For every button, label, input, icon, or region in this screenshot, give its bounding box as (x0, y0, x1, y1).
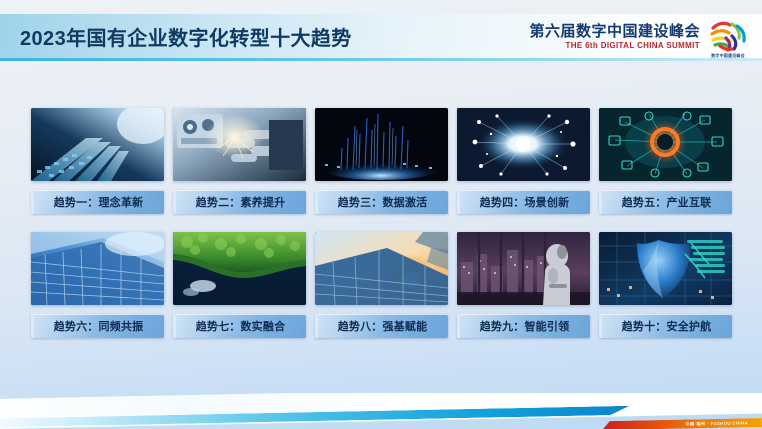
trend-label: 趋势九：智能引领 (457, 314, 590, 338)
footer-location-text: 中国·福州 · FUZHOU CHINA (685, 420, 748, 427)
slide-header: 2023年国有企业数字化转型十大趋势 第六届数字中国建设峰会 THE 6th D… (0, 14, 762, 58)
solar-panel-array-image (31, 232, 164, 305)
trends-row: 趋势一：理念革新 (0, 108, 762, 214)
trend-label: 趋势七：数实融合 (173, 314, 306, 338)
summit-wordmark: 第六届数字中国建设峰会 THE 6th DIGITAL CHINA SUMMIT (529, 24, 700, 50)
summit-title-cn: 第六届数字中国建设峰会 (529, 24, 700, 39)
robot-city-window-image (457, 232, 590, 305)
digital-keyboard-stairs-image (31, 108, 164, 181)
trend-label-text: 趋势七：数实融合 (196, 318, 286, 334)
trend-label: 趋势四：场景创新 (457, 190, 590, 214)
trend-label-text: 趋势十：安全护航 (622, 318, 712, 334)
footer-warm-band: 中国·福州 · FUZHOU CHINA (602, 418, 762, 429)
summit-title-en: THE 6th DIGITAL CHINA SUMMIT (565, 42, 700, 50)
blue-shield-circuit-image (599, 232, 732, 305)
light-burst-particle-network-image (457, 108, 590, 181)
green-forest-water-image (173, 232, 306, 305)
trend-card[interactable]: 趋势八：强基赋能 (315, 232, 448, 338)
trend-card[interactable]: 趋势六：同频共振 (31, 232, 164, 338)
trend-label-text: 趋势五：产业互联 (622, 194, 712, 210)
trend-label: 趋势十：安全护航 (599, 314, 732, 338)
trend-label-text: 趋势四：场景创新 (480, 194, 570, 210)
trend-card[interactable]: 趋势一：理念革新 (31, 108, 164, 214)
trend-label-text: 趋势三：数据激活 (338, 194, 428, 210)
trend-card[interactable]: 趋势七：数实融合 (173, 232, 306, 338)
trend-label: 趋势一：理念革新 (31, 190, 164, 214)
trend-label: 趋势三：数据激活 (315, 190, 448, 214)
trend-card[interactable]: 趋势二：素养提升 (173, 108, 306, 214)
trend-card[interactable]: 趋势九：智能引领 (457, 232, 590, 338)
summit-logo-caption: 数字中国建设峰会 (706, 53, 750, 58)
trend-label-text: 趋势六：同频共振 (54, 318, 144, 334)
trend-label: 趋势五：产业互联 (599, 190, 732, 214)
trends-grid: 趋势一：理念革新 (0, 108, 762, 338)
trend-card[interactable]: 趋势十：安全护航 (599, 232, 732, 338)
slide-footer: 中国·福州 · FUZHOU CHINA (0, 393, 762, 429)
trend-label-text: 趋势九：智能引领 (480, 318, 570, 334)
trends-row: 趋势六：同频共振 (0, 232, 762, 338)
trend-card[interactable]: 趋势三：数据激活 (315, 108, 448, 214)
robotic-hands-control-panel-image (173, 108, 306, 181)
page-title: 2023年国有企业数字化转型十大趋势 (20, 22, 352, 51)
summit-branding: 第六届数字中国建设峰会 THE 6th DIGITAL CHINA SUMMIT (529, 16, 750, 58)
trend-label-text: 趋势八：强基赋能 (338, 318, 428, 334)
solar-panel-sunset-image (315, 232, 448, 305)
trend-card[interactable]: 趋势五：产业互联 (599, 108, 732, 214)
blue-data-stream-image (315, 108, 448, 181)
summit-logo-icon: 数字中国建设峰会 (706, 16, 750, 58)
trend-card[interactable]: 趋势四：场景创新 (457, 108, 590, 214)
trend-label-text: 趋势一：理念革新 (54, 194, 144, 210)
trend-label-text: 趋势二：素养提升 (196, 194, 286, 210)
slide-canvas: 2023年国有企业数字化转型十大趋势 第六届数字中国建设峰会 THE 6th D… (0, 0, 762, 429)
trend-label: 趋势六：同频共振 (31, 314, 164, 338)
trend-label: 趋势八：强基赋能 (315, 314, 448, 338)
trend-label: 趋势二：素养提升 (173, 190, 306, 214)
circuit-network-ring-image (599, 108, 732, 181)
